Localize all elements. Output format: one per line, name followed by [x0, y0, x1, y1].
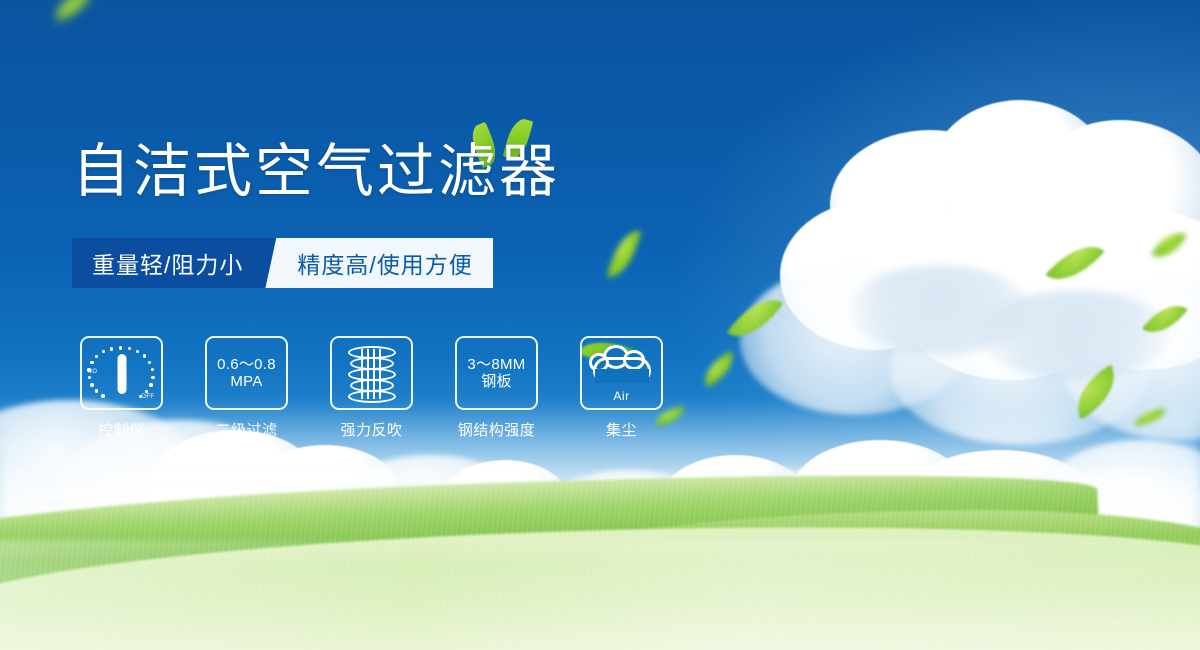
steel-line1: 3～8MM	[467, 356, 525, 373]
pressure-line1: 0.6～0.8	[217, 356, 276, 373]
steel-line2: 钢板	[467, 373, 525, 390]
gauge-off-label: OFF	[141, 394, 154, 400]
feature-box-pressure: 0.6～0.8 MPA	[205, 336, 288, 410]
grass-field	[0, 450, 1200, 650]
subtitle-bar: 重量轻/阻力小 精度高/使用方便	[72, 238, 493, 288]
feature-list: NO OFF 控制仪 0.6～0.8 MPA 二级过滤	[80, 336, 663, 440]
feature-item-steel: 3～8MM 钢板 钢结构强度	[455, 336, 538, 440]
steel-plate-text-icon: 3～8MM 钢板	[467, 356, 525, 391]
feature-box-control: NO OFF	[80, 336, 163, 410]
subtitle-right-text: 精度高/使用方便	[291, 238, 492, 288]
subtitle-divider	[265, 238, 291, 288]
feature-item-control: NO OFF 控制仪	[80, 336, 163, 440]
feature-label-pressure: 二级过滤	[205, 419, 288, 440]
feature-box-dust: Air	[580, 336, 663, 410]
gauge-no-label: NO	[88, 369, 98, 375]
feature-label-dust: 集尘	[580, 419, 663, 440]
feature-item-dust: Air 集尘	[580, 336, 663, 440]
feature-item-pressure: 0.6～0.8 MPA 二级过滤	[205, 336, 288, 440]
subtitle-left-text: 重量轻/阻力小	[72, 238, 265, 288]
feature-label-blowback: 强力反吹	[330, 419, 413, 440]
feature-box-steel: 3～8MM 钢板	[455, 336, 538, 410]
pressure-text-icon: 0.6～0.8 MPA	[217, 356, 276, 391]
pressure-line2: MPA	[217, 373, 276, 390]
air-label: Air	[587, 389, 657, 403]
feature-item-blowback: 强力反吹	[330, 336, 413, 440]
cumulus-cloud	[680, 90, 1200, 450]
feature-label-control: 控制仪	[80, 419, 163, 440]
air-cloud-icon: Air	[587, 343, 657, 403]
blowback-rings-icon	[347, 344, 397, 402]
feature-box-blowback	[330, 336, 413, 410]
feature-label-steel: 钢结构强度	[455, 419, 538, 440]
page-title: 自洁式空气过滤器	[72, 142, 560, 203]
product-banner: 自洁式空气过滤器 重量轻/阻力小 精度高/使用方便	[0, 0, 1200, 650]
gauge-icon: NO OFF	[88, 342, 156, 404]
